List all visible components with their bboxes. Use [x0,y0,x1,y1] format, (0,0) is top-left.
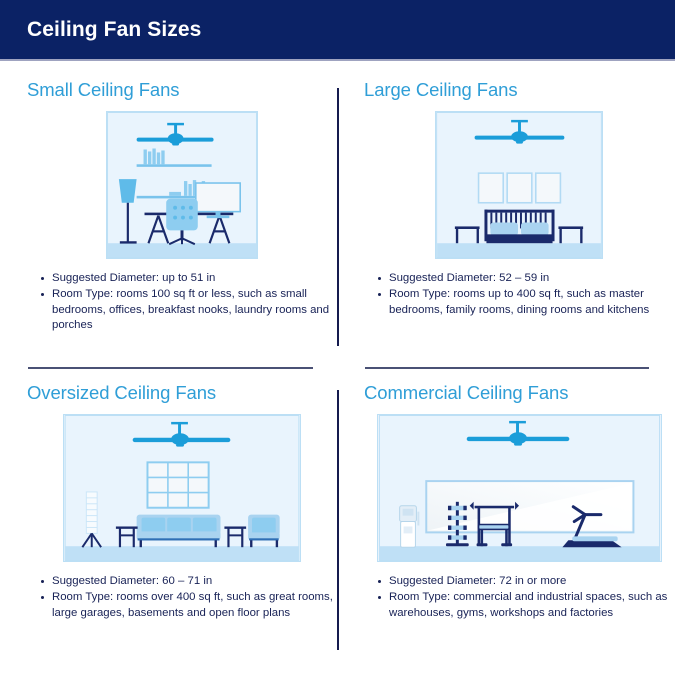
page-header: Ceiling Fan Sizes [0,0,675,61]
illustration-gym [364,414,674,562]
infographic-page: Ceiling Fan Sizes Small Ceiling Fans [0,0,675,675]
horizontal-divider-left [28,367,313,369]
horizontal-divider-right [365,367,649,369]
bullet-list-large: Suggested Diameter: 52 – 59 in Room Type… [364,271,674,318]
page-title: Ceiling Fan Sizes [0,18,201,42]
section-title-small: Small Ceiling Fans [27,79,337,101]
living-room-scene-icon [63,414,301,562]
vertical-divider-bottom [337,390,339,650]
gym-scene-icon [377,414,662,562]
section-title-commercial: Commercial Ceiling Fans [364,382,674,404]
vertical-divider-top [337,88,339,346]
bedroom-scene-icon [435,111,603,259]
bullet-list-small: Suggested Diameter: up to 51 in Room Typ… [27,271,337,334]
list-item: Suggested Diameter: 60 – 71 in [40,574,337,589]
illustration-bedroom [364,111,674,259]
illustration-home-office [27,111,337,259]
list-item: Room Type: rooms up to 400 sq ft, such a… [377,287,674,318]
bullet-list-commercial: Suggested Diameter: 72 in or more Room T… [364,574,674,621]
section-title-oversized: Oversized Ceiling Fans [27,382,337,404]
list-item: Suggested Diameter: 72 in or more [377,574,674,589]
list-item: Room Type: commercial and industrial spa… [377,590,674,621]
list-item: Suggested Diameter: up to 51 in [40,271,337,286]
bullet-list-oversized: Suggested Diameter: 60 – 71 in Room Type… [27,574,337,621]
section-small-ceiling-fans: Small Ceiling Fans [27,79,337,335]
home-office-scene-icon [106,111,258,259]
list-item: Room Type: rooms over 400 sq ft, such as… [40,590,337,621]
section-commercial-ceiling-fans: Commercial Ceiling Fans [364,382,674,622]
list-item: Room Type: rooms 100 sq ft or less, such… [40,287,337,333]
sections-grid: Small Ceiling Fans [0,63,675,675]
section-large-ceiling-fans: Large Ceiling Fans [364,79,674,319]
section-oversized-ceiling-fans: Oversized Ceiling Fans [27,382,337,622]
illustration-living-room [27,414,337,562]
section-title-large: Large Ceiling Fans [364,79,674,101]
list-item: Suggested Diameter: 52 – 59 in [377,271,674,286]
